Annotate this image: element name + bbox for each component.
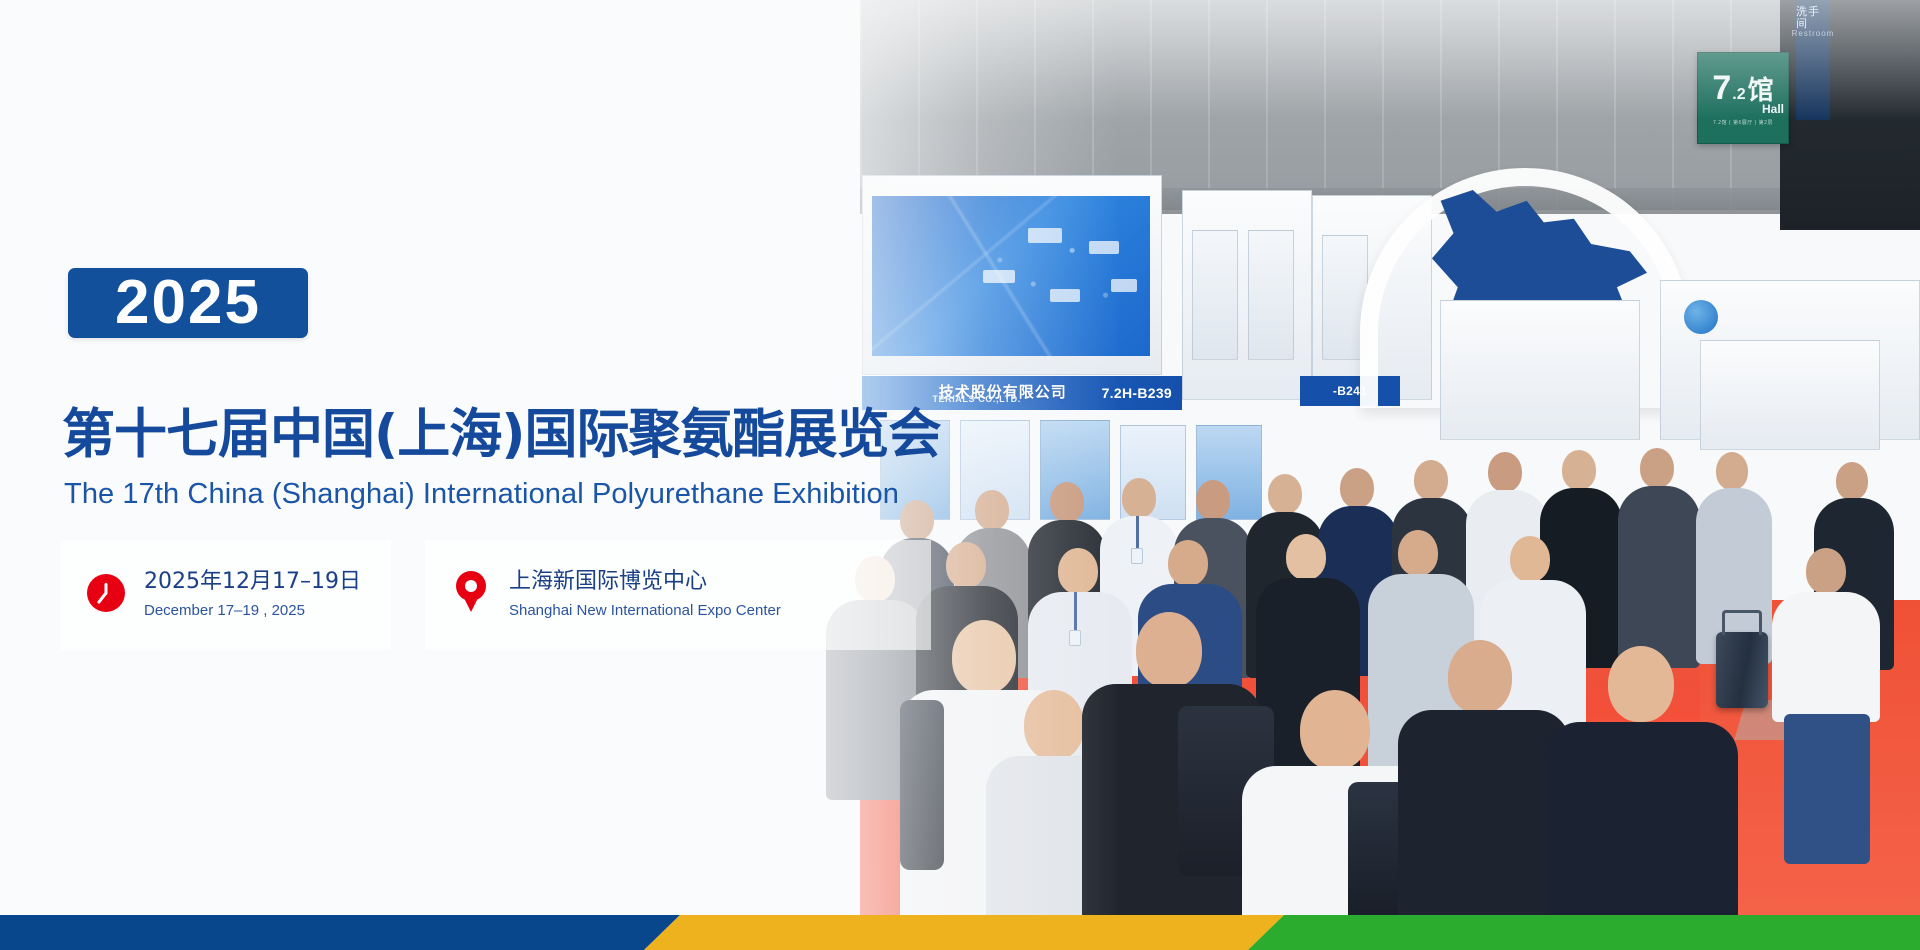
bar-segment-green xyxy=(1248,915,1920,950)
event-info-row: 2025年12月17–19日 December 17–19 , 2025 上海新… xyxy=(60,540,931,650)
banner-content: 2025 第十七届中国(上海)国际聚氨酯展览会 The 17th China (… xyxy=(0,0,1120,950)
event-date-cn: 2025年12月17–19日 xyxy=(144,567,361,597)
exhibition-banner: 7 .2 馆 Hall 7.2馆 ( 第6展厅 ) 第2层 洗手间 Restro… xyxy=(0,0,1920,950)
year-badge-label: 2025 xyxy=(115,272,261,334)
event-venue-cn: 上海新国际博览中心 xyxy=(509,567,781,597)
booth-structure xyxy=(1700,340,1880,450)
event-date-card: 2025年12月17–19日 December 17–19 , 2025 xyxy=(60,540,391,650)
title-chinese: 第十七届中国(上海)国际聚氨酯展览会 xyxy=(62,392,940,468)
restroom-sign-cn: 洗手间 xyxy=(1796,6,1830,30)
title-english: The 17th China (Shanghai) International … xyxy=(64,478,899,511)
hall-sign-fine-print: 7.2馆 ( 第6展厅 ) 第2层 xyxy=(1713,121,1773,126)
bar-segment-gold xyxy=(644,915,1284,950)
event-venue-en: Shanghai New International Expo Center xyxy=(509,602,781,619)
hall-sign-number: 7 xyxy=(1712,71,1730,105)
clock-icon xyxy=(82,574,130,612)
event-venue-text: 上海新国际博览中心 Shanghai New International Exp… xyxy=(509,567,781,619)
map-pin-icon xyxy=(447,571,495,615)
restroom-sign: 洗手间 Restroom xyxy=(1796,0,1830,120)
event-date-en: December 17–19 , 2025 xyxy=(144,602,361,619)
booth-structure xyxy=(1440,300,1640,440)
year-badge: 2025 xyxy=(68,268,308,338)
hall-sign-en: Hall xyxy=(1762,103,1784,115)
rolling-suitcase xyxy=(1716,632,1768,708)
bottom-color-bar xyxy=(0,915,1920,950)
hall-sign-cn: 馆 xyxy=(1748,77,1774,105)
booth-wall-panel xyxy=(1248,230,1294,360)
restroom-sign-en: Restroom xyxy=(1792,30,1835,39)
hall-sign-decimal: .2 xyxy=(1732,87,1745,105)
bar-segment-blue xyxy=(0,915,680,950)
booth-logo-icon xyxy=(1684,300,1718,334)
hall-number-sign: 7 .2 馆 Hall 7.2馆 ( 第6展厅 ) 第2层 xyxy=(1697,52,1789,144)
booth-wall-panel xyxy=(1192,230,1238,360)
event-venue-card: 上海新国际博览中心 Shanghai New International Exp… xyxy=(425,540,931,650)
event-date-text: 2025年12月17–19日 December 17–19 , 2025 xyxy=(144,567,361,619)
